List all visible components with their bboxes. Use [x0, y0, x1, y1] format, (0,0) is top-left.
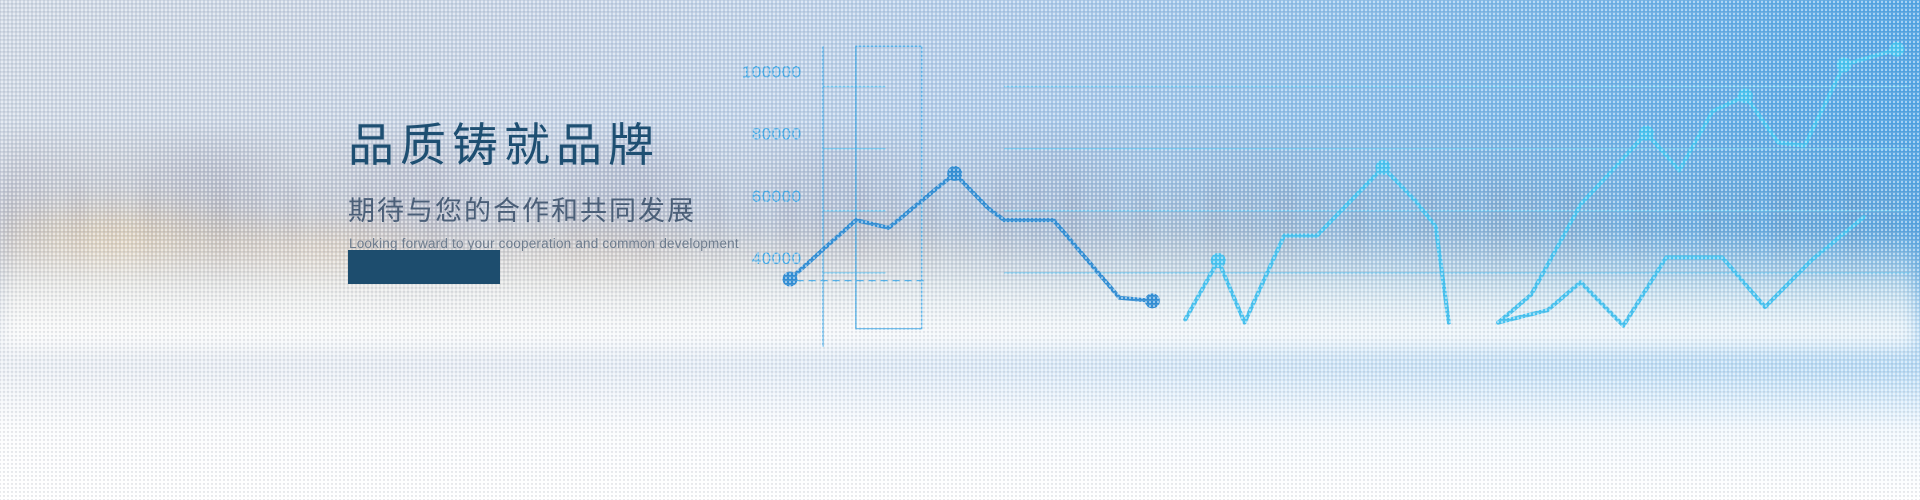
axis-range-box	[856, 46, 922, 329]
chart-svg: 100000800006000040000	[760, 0, 1920, 500]
series-line	[1185, 167, 1449, 322]
series-marker	[1639, 126, 1654, 141]
y-tick-label: 80000	[752, 125, 802, 144]
series-marker	[1738, 88, 1753, 103]
hero-banner: 100000800006000040000 品质铸就品牌 期待与您的合作和共同发…	[0, 0, 1920, 500]
series-line	[1498, 217, 1864, 326]
banner-copy: 品质铸就品牌 期待与您的合作和共同发展 Looking forward to y…	[348, 122, 739, 251]
banner-subheadline-en: Looking forward to your cooperation and …	[349, 237, 739, 251]
series-marker	[1211, 253, 1226, 268]
banner-headline: 品质铸就品牌	[348, 122, 739, 168]
series-marker	[947, 166, 962, 181]
series-marker	[1889, 42, 1904, 57]
series-marker	[1375, 160, 1390, 175]
chart-gridlines	[823, 87, 1910, 273]
chart-axis	[797, 46, 925, 347]
line-chart: 100000800006000040000	[760, 0, 1920, 500]
series-marker	[1145, 293, 1160, 308]
chart-series	[783, 42, 1905, 326]
series-marker	[783, 272, 798, 287]
series-marker	[1837, 57, 1852, 72]
y-tick-label: 60000	[752, 187, 802, 206]
y-tick-label: 100000	[742, 63, 802, 82]
series-line	[1498, 49, 1897, 322]
series-line	[790, 174, 1152, 301]
cta-button[interactable]	[348, 250, 500, 284]
y-tick-label: 40000	[752, 249, 802, 268]
banner-subheadline: 期待与您的合作和共同发展	[348, 198, 739, 225]
